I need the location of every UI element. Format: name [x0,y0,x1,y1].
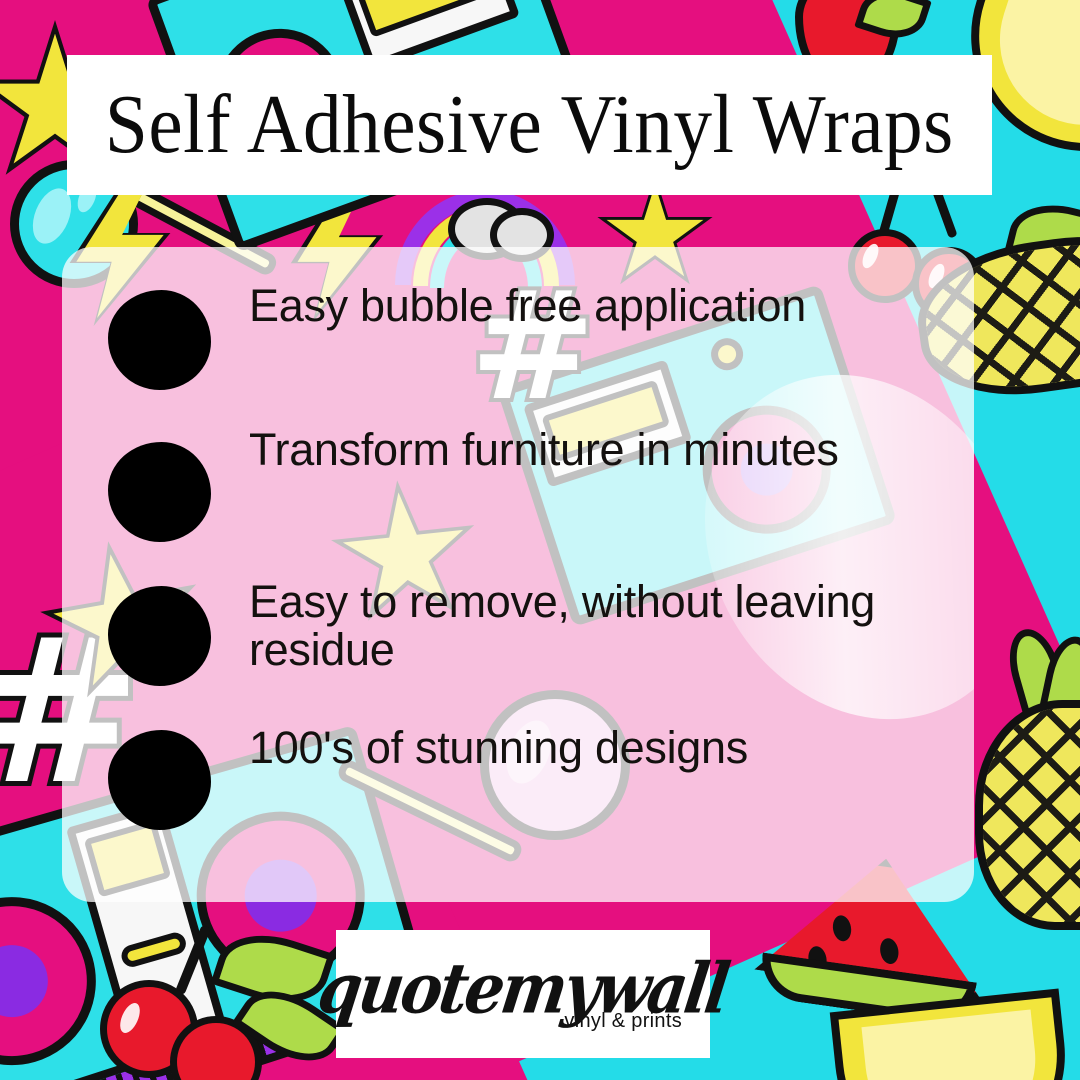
feature-text: Transform furniture in minutes [249,420,839,474]
logo-wordmark: quotemywall [315,957,731,1019]
list-item: 100's of stunning designs [108,718,908,830]
list-item: Easy bubble free application [108,276,908,390]
brand-logo: quotemywall vinyl & prints [336,930,710,1058]
feature-text: Easy to remove, without leaving residue [249,572,908,674]
feature-text: Easy bubble free application [249,276,806,330]
poster-canvas: # # [0,0,1080,1080]
black-dot-bullet-icon [108,442,211,542]
list-item: Transform furniture in minutes [108,420,908,542]
black-dot-bullet-icon [108,290,211,390]
cherries-icon [70,930,300,1080]
black-dot-bullet-icon [108,730,211,830]
title-banner: Self Adhesive Vinyl Wraps [67,55,992,195]
feature-text: 100's of stunning designs [249,718,748,772]
black-dot-bullet-icon [108,586,211,686]
list-item: Easy to remove, without leaving residue [108,572,908,686]
feature-list: Easy bubble free application Transform f… [108,276,908,854]
page-title: Self Adhesive Vinyl Wraps [105,83,954,167]
